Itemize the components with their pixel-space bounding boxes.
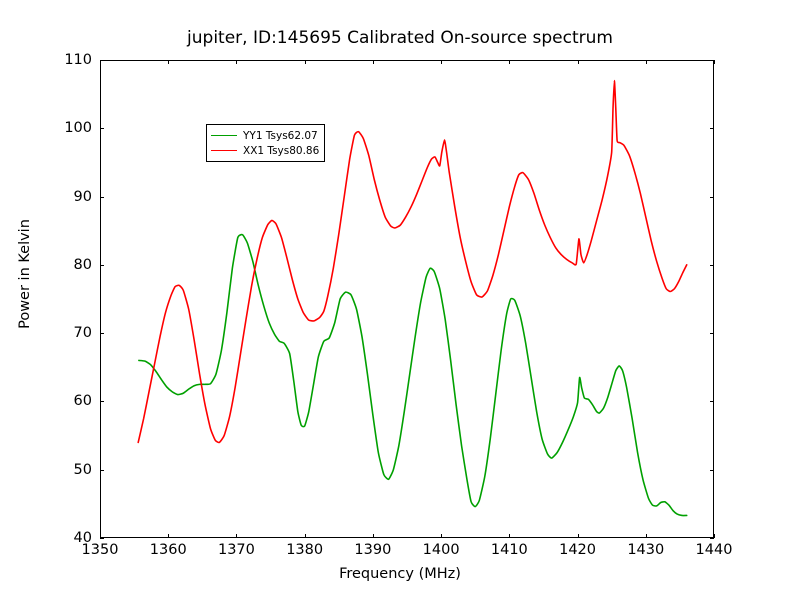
legend-swatch-xx1 xyxy=(211,150,237,151)
x-tick-label: 1380 xyxy=(270,542,340,558)
y-tick-label: 60 xyxy=(46,393,92,409)
y-tick-mark xyxy=(710,128,714,129)
y-tick-label: 110 xyxy=(46,52,92,68)
x-tick-label: 1410 xyxy=(474,542,544,558)
y-tick-mark xyxy=(100,265,104,266)
x-tick-mark xyxy=(646,60,647,64)
y-tick-mark xyxy=(710,197,714,198)
x-tick-label: 1440 xyxy=(679,542,749,558)
x-axis-label: Frequency (MHz) xyxy=(0,566,800,582)
legend-item: YY1 Tsys62.07 xyxy=(211,128,319,143)
y-tick-mark xyxy=(100,470,104,471)
y-tick-mark xyxy=(710,333,714,334)
x-tick-mark xyxy=(714,60,715,64)
y-tick-mark xyxy=(710,538,714,539)
y-tick-label: 70 xyxy=(46,325,92,341)
axes-frame xyxy=(100,60,714,538)
x-tick-mark xyxy=(509,60,510,64)
y-tick-mark xyxy=(100,333,104,334)
x-tick-mark xyxy=(236,534,237,538)
y-tick-mark xyxy=(100,197,104,198)
plot-axes-area: YY1 Tsys62.07 XX1 Tsys80.86 xyxy=(100,60,714,538)
x-tick-mark xyxy=(305,60,306,64)
x-tick-label: 1360 xyxy=(133,542,203,558)
x-tick-mark xyxy=(714,534,715,538)
x-tick-mark xyxy=(100,60,101,64)
x-tick-mark xyxy=(441,60,442,64)
page-title: jupiter, ID:145695 Calibrated On-source … xyxy=(0,28,800,48)
x-tick-mark xyxy=(578,60,579,64)
legend-label-xx1: XX1 Tsys80.86 xyxy=(243,145,319,157)
x-tick-mark xyxy=(305,534,306,538)
y-tick-label: 80 xyxy=(46,257,92,273)
y-tick-mark xyxy=(100,128,104,129)
x-tick-mark xyxy=(236,60,237,64)
x-tick-label: 1400 xyxy=(406,542,476,558)
x-tick-label: 1370 xyxy=(201,542,271,558)
legend: YY1 Tsys62.07 XX1 Tsys80.86 xyxy=(206,124,325,162)
x-tick-mark xyxy=(168,534,169,538)
y-tick-mark xyxy=(710,265,714,266)
x-tick-mark xyxy=(373,534,374,538)
y-tick-mark xyxy=(710,470,714,471)
x-tick-mark xyxy=(373,60,374,64)
y-tick-label: 100 xyxy=(46,120,92,136)
x-tick-label: 1420 xyxy=(543,542,613,558)
x-tick-label: 1350 xyxy=(65,542,135,558)
spectrum-figure: jupiter, ID:145695 Calibrated On-source … xyxy=(0,0,800,600)
x-tick-label: 1390 xyxy=(338,542,408,558)
x-tick-mark xyxy=(646,534,647,538)
legend-label-yy1: YY1 Tsys62.07 xyxy=(243,130,318,142)
x-tick-mark xyxy=(168,60,169,64)
y-axis-label: Power in Kelvin xyxy=(17,144,33,404)
y-tick-mark xyxy=(100,538,104,539)
x-tick-mark xyxy=(441,534,442,538)
legend-swatch-yy1 xyxy=(211,135,237,136)
y-tick-label: 90 xyxy=(46,189,92,205)
y-tick-label: 50 xyxy=(46,462,92,478)
x-tick-mark xyxy=(578,534,579,538)
x-tick-mark xyxy=(100,534,101,538)
y-tick-mark xyxy=(710,401,714,402)
y-tick-mark xyxy=(100,401,104,402)
x-tick-mark xyxy=(509,534,510,538)
legend-item: XX1 Tsys80.86 xyxy=(211,143,319,158)
x-tick-label: 1430 xyxy=(611,542,681,558)
